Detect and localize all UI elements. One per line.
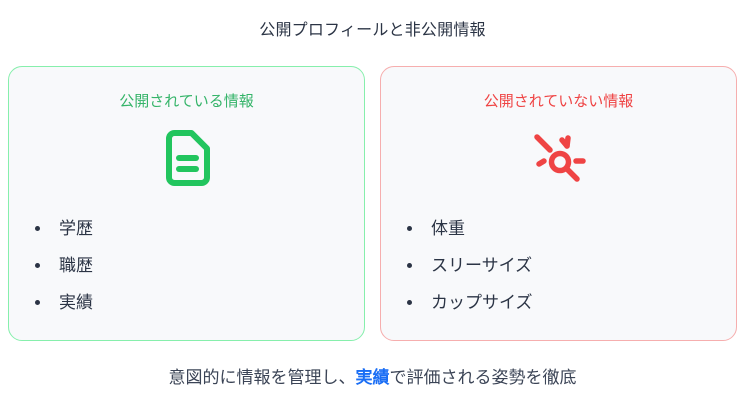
page-title: 公開プロフィールと非公開情報	[0, 20, 745, 42]
bullet-icon	[407, 263, 412, 268]
list-item: カップサイズ	[381, 284, 736, 321]
comparison-cards-row: 公開されている情報 学歴 職歴 実績	[8, 66, 737, 341]
list-item-label: 学歴	[59, 217, 93, 241]
footer-note-suffix: で評価される姿勢を徹底	[390, 368, 577, 387]
list-item-label: 実績	[59, 291, 93, 315]
list-item: 職歴	[9, 247, 364, 284]
bullet-icon	[35, 263, 40, 268]
public-info-list: 学歴 職歴 実績	[9, 210, 364, 321]
card-public-information: 公開されている情報 学歴 職歴 実績	[8, 66, 365, 341]
bullet-icon	[35, 226, 40, 231]
list-item-label: 体重	[431, 217, 465, 241]
private-info-list: 体重 スリーサイズ カップサイズ	[381, 210, 736, 321]
list-item: 学歴	[9, 210, 364, 247]
bullet-icon	[407, 300, 412, 305]
bullet-icon	[407, 226, 412, 231]
list-item: 実績	[9, 284, 364, 321]
list-item-label: カップサイズ	[431, 291, 533, 315]
list-item: スリーサイズ	[381, 247, 736, 284]
slide-canvas: 公開プロフィールと非公開情報 公開されている情報 学歴 職歴	[0, 0, 745, 409]
list-item-label: スリーサイズ	[431, 254, 532, 278]
list-item: 体重	[381, 210, 736, 247]
list-item-label: 職歴	[59, 254, 93, 278]
card-private-information: 公開されていない情報	[380, 66, 737, 341]
card-private-title: 公開されていない情報	[381, 91, 736, 112]
bullet-icon	[35, 300, 40, 305]
footer-note: 意図的に情報を管理し、実績で評価される姿勢を徹底	[0, 365, 745, 390]
document-icon	[9, 127, 364, 189]
card-public-title: 公開されている情報	[9, 91, 364, 112]
footer-note-prefix: 意図的に情報を管理し、	[169, 368, 356, 387]
search-off-icon	[381, 127, 736, 189]
footer-note-highlight: 実績	[356, 368, 390, 387]
